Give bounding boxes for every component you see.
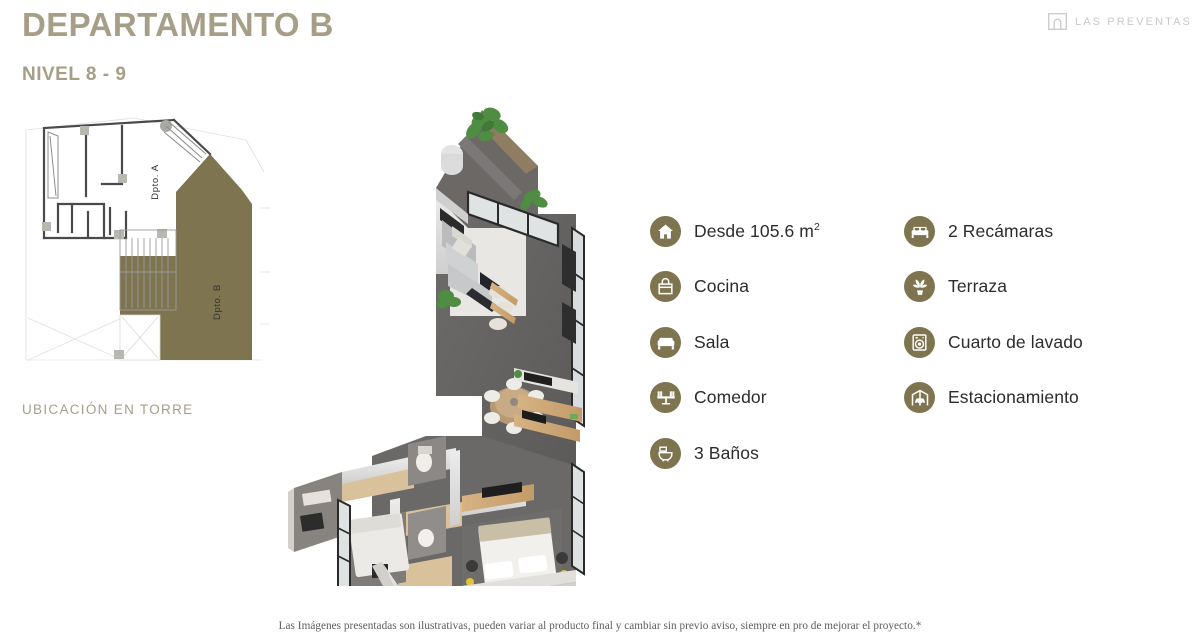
feature-laundry: Cuarto de lavado xyxy=(904,325,1083,359)
feature-label: 2 Recámaras xyxy=(948,221,1053,242)
garage-car-icon xyxy=(904,382,935,413)
feature-label: Cocina xyxy=(694,276,749,297)
feature-label: Comedor xyxy=(694,387,767,408)
page-subtitle: NIVEL 8 - 9 xyxy=(22,64,126,86)
washing-machine-icon xyxy=(904,327,935,358)
slide-root: DEPARTAMENTO B NIVEL 8 - 9 LAS PREVENTAS xyxy=(0,0,1200,642)
tower-location-diagram: Dpto. A Dpto. B xyxy=(14,112,276,364)
feature-bedrooms: 2 Recámaras xyxy=(904,214,1083,248)
feature-parking: Estacionamiento xyxy=(904,381,1083,415)
unit-a-label: Dpto. A xyxy=(150,164,161,199)
arch-house-icon xyxy=(1048,13,1067,30)
features-left-column: Desde 105.6 m2 Cocina xyxy=(650,214,820,492)
page-title: DEPARTAMENTO B xyxy=(22,6,334,44)
home-icon xyxy=(650,216,681,247)
unit-b-label: Dpto. B xyxy=(212,284,223,320)
dining-table-icon xyxy=(650,382,681,413)
footer-disclaimer: Las Imágenes presentadas son ilustrativa… xyxy=(0,620,1200,632)
tower-diagram-caption: UBICACIÓN EN TORRE xyxy=(22,402,193,417)
toilet-icon xyxy=(650,438,681,469)
bed-icon xyxy=(904,216,935,247)
feature-kitchen: Cocina xyxy=(650,270,820,304)
sofa-icon xyxy=(650,327,681,358)
feature-label: Terraza xyxy=(948,276,1007,297)
brand-logo: LAS PREVENTAS xyxy=(1048,13,1192,30)
plant-icon xyxy=(904,271,935,302)
brand-name: LAS PREVENTAS xyxy=(1075,16,1192,28)
feature-label: Sala xyxy=(694,332,729,353)
3d-floorplan-render xyxy=(286,96,616,586)
feature-living-room: Sala xyxy=(650,325,820,359)
feature-label: 3 Baños xyxy=(694,443,759,464)
feature-area: Desde 105.6 m2 xyxy=(650,214,820,248)
feature-label: Desde 105.6 m2 xyxy=(694,221,820,242)
feature-label: Estacionamiento xyxy=(948,387,1079,408)
feature-label: Cuarto de lavado xyxy=(948,332,1083,353)
kitchen-icon xyxy=(650,271,681,302)
features-right-column: 2 Recámaras Terraza xyxy=(904,214,1083,436)
feature-terrace: Terraza xyxy=(904,270,1083,304)
feature-dining-room: Comedor xyxy=(650,381,820,415)
feature-bathrooms: 3 Baños xyxy=(650,436,820,470)
